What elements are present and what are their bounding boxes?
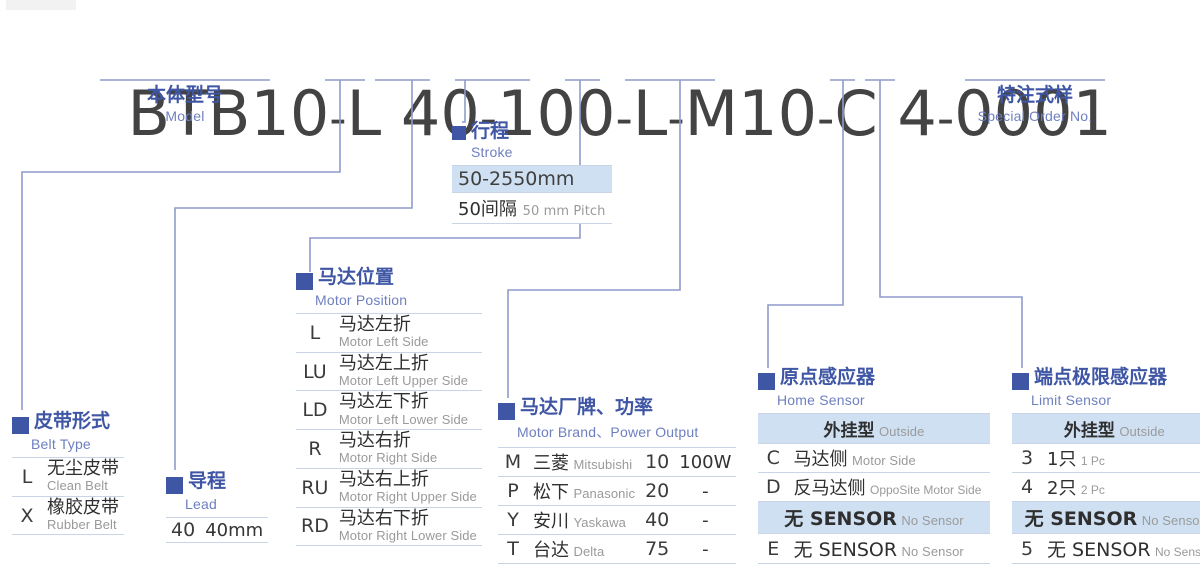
stroke-pitch: 50间隔 50 mm Pitch — [452, 192, 612, 223]
table-group-header: 无 SENSOR No Sensor — [1012, 502, 1200, 534]
table-row[interactable]: D 反马达侧 OppoSite Motor Side — [758, 473, 990, 502]
stroke-table: 50-2550mm 50间隔 50 mm Pitch — [452, 165, 612, 224]
section-motor-brand-title-zh: 马达厂牌、功率 — [520, 398, 653, 418]
brand-name: 台达 Delta — [528, 535, 640, 564]
table-row[interactable]: 5 无 SENSOR No Sensor — [1012, 534, 1200, 564]
brand-name-zh: 松下 — [533, 482, 569, 503]
limit-desc-en: No Sensor — [1155, 545, 1200, 559]
limit-code: 5 — [1012, 534, 1042, 564]
motorpos-code: RD — [296, 507, 334, 546]
brand-name: 松下 Panasonic — [528, 477, 640, 506]
table-row[interactable]: L马达左折Motor Left Side — [296, 314, 482, 353]
power-code: 75 — [640, 535, 674, 564]
table-group-header: 外挂型 Outside — [758, 414, 990, 444]
motorpos-desc-zh: 马达右折 — [339, 431, 477, 451]
limit-desc-zh: 2只 — [1047, 478, 1076, 499]
table-group-header: 外挂型 Outside — [1012, 414, 1200, 444]
motorpos-desc: 马达左折Motor Left Side — [334, 314, 482, 353]
table-row[interactable]: RD马达右下折Motor Right Lower Side — [296, 507, 482, 546]
motorpos-desc-en: Motor Right Upper Side — [339, 490, 477, 505]
section-motor-position-head: 马达位置 — [296, 268, 482, 290]
stroke-pitch-zh: 50间隔 — [458, 199, 517, 220]
bullet-square-icon — [1012, 373, 1029, 390]
power-value: 100W — [674, 448, 736, 477]
motorpos-code: LU — [296, 352, 334, 391]
section-stroke-title-zh: 行程 — [471, 122, 509, 142]
leader-stroke — [462, 80, 465, 122]
table-row[interactable]: 4 2只 2 Pc — [1012, 473, 1200, 502]
brand-name: 安川 Yaskawa — [528, 506, 640, 535]
home-desc: 反马达侧 OppoSite Motor Side — [789, 473, 990, 502]
motor-brand-table: M 三菱 Mitsubishi 10 100W P 松下 Panasonic 2… — [498, 447, 736, 564]
power-code: 40 — [640, 506, 674, 535]
brand-name: 三菱 Mitsubishi — [528, 448, 640, 477]
home-code: C — [758, 444, 789, 473]
section-motor-brand-title-en: Motor Brand、Power Output — [517, 422, 736, 442]
section-motor-position-title-zh: 马达位置 — [318, 268, 394, 288]
section-motor-position-title-en: Motor Position — [315, 292, 482, 308]
limit-group1-zh: 外挂型 — [1064, 421, 1115, 441]
section-home-sensor-title-zh: 原点感应器 — [780, 368, 875, 388]
motorpos-code: LD — [296, 391, 334, 430]
section-belt-type-title-zh: 皮带形式 — [34, 412, 110, 432]
table-row[interactable]: LU马达左上折Motor Left Upper Side — [296, 352, 482, 391]
home-code: D — [758, 473, 789, 502]
brand-name-en: Panasonic — [573, 486, 635, 501]
limit-group2-zh: 无 SENSOR — [1025, 508, 1138, 530]
lead-value: 40mm — [200, 518, 268, 543]
bullet-square-icon — [12, 417, 29, 434]
belt-code: L — [12, 458, 42, 497]
limit-group1-en: Outside — [1119, 424, 1165, 439]
section-lead-title-zh: 导程 — [188, 472, 226, 492]
section-model-title-zh: 本体型号 — [100, 86, 270, 106]
limit-desc: 2只 2 Pc — [1042, 473, 1200, 502]
home-desc-zh: 马达侧 — [794, 449, 848, 470]
limit-code: 4 — [1012, 473, 1042, 502]
motorpos-code: RU — [296, 468, 334, 507]
home-desc: 马达侧 Motor Side — [789, 444, 990, 473]
motorpos-desc-zh: 马达左折 — [339, 315, 477, 335]
table-row[interactable]: RU马达右上折Motor Right Upper Side — [296, 468, 482, 507]
motorpos-desc-zh: 马达右下折 — [339, 509, 477, 529]
home-group1-header: 外挂型 Outside — [758, 414, 990, 444]
power-value: - — [674, 535, 736, 564]
limit-group2-header: 无 SENSOR No Sensor — [1012, 502, 1200, 534]
table-row[interactable]: 50-2550mm — [452, 165, 612, 192]
table-group-header: 无 SENSOR No Sensor — [758, 502, 990, 534]
bullet-square-icon — [452, 126, 466, 140]
table-row[interactable]: T 台达 Delta 75 - — [498, 535, 736, 564]
limit-group2-en: No Sensor — [1142, 513, 1200, 528]
section-belt-type-title-en: Belt Type — [31, 436, 124, 452]
motorpos-desc-en: Motor Left Upper Side — [339, 374, 477, 389]
section-motor-brand-head: 马达厂牌、功率 — [498, 398, 736, 420]
brand-name-en: Yaskawa — [573, 515, 625, 530]
lead-code: 40 — [166, 518, 200, 543]
brand-name-en: Mitsubishi — [573, 457, 632, 472]
motorpos-desc: 马达右上折Motor Right Upper Side — [334, 468, 482, 507]
limit-group1-header: 外挂型 Outside — [1012, 414, 1200, 444]
limit-desc-zh: 无 SENSOR — [1047, 539, 1151, 561]
brand-name-zh: 安川 — [533, 511, 569, 532]
section-model: 本体型号 Model — [100, 86, 270, 124]
table-row[interactable]: C 马达侧 Motor Side — [758, 444, 990, 473]
brand-code: Y — [498, 506, 528, 535]
belt-desc-zh: 橡胶皮带 — [47, 498, 119, 518]
table-row[interactable]: P 松下 Panasonic 20 - — [498, 477, 736, 506]
table-row[interactable]: L 无尘皮带 Clean Belt — [12, 458, 124, 497]
section-limit-sensor-head: 端点极限感应器 — [1012, 368, 1200, 390]
belt-code: X — [12, 496, 42, 535]
table-row[interactable]: 40 40mm — [166, 518, 268, 543]
motorpos-desc-zh: 马达左下折 — [339, 392, 477, 412]
section-lead-head: 导程 — [166, 472, 268, 494]
section-limit-sensor-title-zh: 端点极限感应器 — [1034, 368, 1167, 388]
home-sensor-table: 外挂型 Outside C 马达侧 Motor Side D 反马达侧 Oppo… — [758, 413, 990, 564]
motorpos-desc: 马达右折Motor Right Side — [334, 430, 482, 469]
section-special-order-title-en: Special Order No. — [965, 108, 1105, 124]
bullet-square-icon — [758, 373, 775, 390]
limit-code: 3 — [1012, 444, 1042, 473]
motorpos-desc-en: Motor Left Lower Side — [339, 413, 477, 428]
section-belt-type: 皮带形式 Belt Type L 无尘皮带 Clean Belt X 橡胶皮带 … — [12, 412, 124, 535]
bullet-square-icon — [166, 477, 183, 494]
home-desc-en: No Sensor — [902, 544, 964, 559]
stroke-pitch-en: 50 mm Pitch — [523, 204, 606, 219]
section-belt-type-head: 皮带形式 — [12, 412, 124, 434]
motorpos-desc: 马达左下折Motor Left Lower Side — [334, 391, 482, 430]
table-row[interactable]: M 三菱 Mitsubishi 10 100W — [498, 448, 736, 477]
belt-type-table: L 无尘皮带 Clean Belt X 橡胶皮带 Rubber Belt — [12, 457, 124, 535]
power-code: 20 — [640, 477, 674, 506]
brand-code: M — [498, 448, 528, 477]
power-value: - — [674, 477, 736, 506]
motorpos-code: R — [296, 430, 334, 469]
home-group2-zh: 无 SENSOR — [784, 508, 897, 530]
motorpos-desc-en: Motor Left Side — [339, 335, 477, 350]
table-row[interactable]: 3 1只 1 Pc — [1012, 444, 1200, 473]
leader-home-sensor — [768, 80, 843, 368]
motorpos-desc: 马达左上折Motor Left Upper Side — [334, 352, 482, 391]
section-lead: 导程 Lead 40 40mm — [166, 472, 268, 543]
section-stroke-title-en: Stroke — [471, 144, 612, 160]
section-home-sensor: 原点感应器 Home Sensor 外挂型 Outside C 马达侧 Moto… — [758, 368, 990, 564]
table-row[interactable]: R马达右折Motor Right Side — [296, 430, 482, 469]
home-desc: 无 SENSOR No Sensor — [789, 534, 990, 564]
stroke-range: 50-2550mm — [452, 165, 612, 192]
motorpos-desc-en: Motor Right Lower Side — [339, 529, 477, 544]
section-motor-brand: 马达厂牌、功率 Motor Brand、Power Output M 三菱 Mi… — [498, 398, 736, 564]
brand-name-en: Delta — [573, 544, 604, 559]
home-code: E — [758, 534, 789, 564]
motorpos-code: L — [296, 314, 334, 353]
limit-desc-zh: 1只 — [1047, 449, 1076, 470]
table-row[interactable]: 50间隔 50 mm Pitch — [452, 192, 612, 223]
limit-desc-en: 1 Pc — [1081, 454, 1105, 468]
home-desc-zh: 反马达侧 — [794, 478, 866, 499]
bullet-square-icon — [296, 273, 313, 290]
section-special-order: 特注式样 Special Order No. — [965, 86, 1105, 124]
section-limit-sensor-title-en: Limit Sensor — [1031, 392, 1200, 408]
section-lead-title-en: Lead — [185, 496, 268, 512]
lead-table: 40 40mm — [166, 517, 268, 543]
home-desc-zh: 无 SENSOR — [794, 539, 898, 561]
section-model-title-en: Model — [100, 108, 270, 124]
section-limit-sensor: 端点极限感应器 Limit Sensor 外挂型 Outside 3 1只 1 … — [1012, 368, 1200, 564]
table-row[interactable]: Y 安川 Yaskawa 40 - — [498, 506, 736, 535]
table-row[interactable]: LD马达左下折Motor Left Lower Side — [296, 391, 482, 430]
leader-belt-type — [22, 80, 340, 410]
home-group1-zh: 外挂型 — [824, 421, 875, 441]
belt-desc: 橡胶皮带 Rubber Belt — [42, 496, 124, 535]
limit-desc-en: 2 Pc — [1081, 483, 1105, 497]
home-group2-header: 无 SENSOR No Sensor — [758, 502, 990, 534]
table-row[interactable]: E 无 SENSOR No Sensor — [758, 534, 990, 564]
belt-desc-en: Clean Belt — [47, 479, 119, 494]
home-desc-en: Motor Side — [852, 453, 916, 468]
bullet-square-icon — [498, 403, 515, 420]
brand-name-zh: 三菱 — [533, 453, 569, 474]
section-stroke-head: 行程 — [452, 122, 612, 142]
section-motor-position: 马达位置 Motor Position L马达左折Motor Left Side… — [296, 268, 482, 546]
belt-desc: 无尘皮带 Clean Belt — [42, 458, 124, 497]
section-stroke: 行程 Stroke 50-2550mm 50间隔 50 mm Pitch — [452, 122, 612, 224]
limit-sensor-table: 外挂型 Outside 3 1只 1 Pc 4 2只 2 Pc 无 SENSOR… — [1012, 413, 1200, 564]
section-home-sensor-head: 原点感应器 — [758, 368, 990, 390]
belt-desc-en: Rubber Belt — [47, 518, 119, 533]
home-group2-en: No Sensor — [901, 513, 963, 528]
limit-desc: 1只 1 Pc — [1042, 444, 1200, 473]
home-group1-en: Outside — [879, 424, 925, 439]
power-value: - — [674, 506, 736, 535]
limit-desc: 无 SENSOR No Sensor — [1042, 534, 1200, 564]
home-desc-en: OppoSite Motor Side — [870, 483, 981, 497]
motorpos-desc-zh: 马达右上折 — [339, 470, 477, 490]
section-special-order-title-zh: 特注式样 — [965, 86, 1105, 106]
section-home-sensor-title-en: Home Sensor — [777, 392, 990, 408]
brand-code: T — [498, 535, 528, 564]
brand-code: P — [498, 477, 528, 506]
power-code: 10 — [640, 448, 674, 477]
table-row[interactable]: X 橡胶皮带 Rubber Belt — [12, 496, 124, 535]
belt-desc-zh: 无尘皮带 — [47, 459, 119, 479]
motorpos-desc: 马达右下折Motor Right Lower Side — [334, 507, 482, 546]
motorpos-desc-en: Motor Right Side — [339, 451, 477, 466]
motorpos-desc-zh: 马达左上折 — [339, 354, 477, 374]
motor-position-table: L马达左折Motor Left Side LU马达左上折Motor Left U… — [296, 313, 482, 546]
